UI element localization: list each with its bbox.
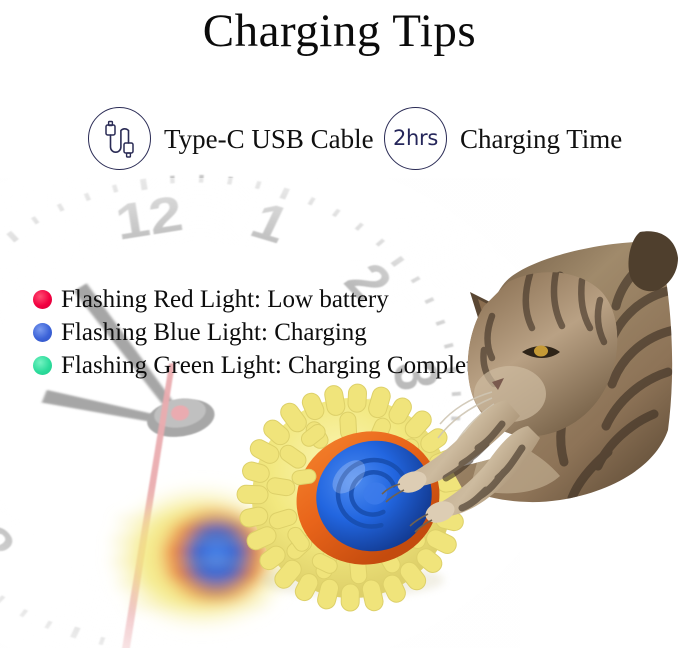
duration-badge-text: 2hrs bbox=[393, 128, 438, 149]
cat-claws bbox=[382, 484, 432, 532]
cat-eye bbox=[522, 346, 560, 358]
cat-front-legs bbox=[382, 400, 540, 532]
clock-numeral-1: 1 bbox=[243, 191, 299, 254]
led-legend-row-red: Flashing Red Light: Low battery bbox=[33, 283, 497, 316]
clock-second-hand bbox=[61, 362, 232, 648]
led-indicator-green-icon bbox=[33, 356, 52, 375]
led-legend-text-red: Flashing Red Light: Low battery bbox=[61, 285, 389, 314]
spec-label-usb-cable: Type-C USB Cable bbox=[164, 123, 374, 155]
led-legend-text-green: Flashing Green Light: Charging Completed bbox=[61, 351, 497, 380]
led-legend-row-green: Flashing Green Light: Charging Completed bbox=[33, 349, 497, 382]
spec-item-usb-cable: Type-C USB Cable bbox=[88, 98, 374, 170]
clock-center-hub bbox=[144, 394, 217, 441]
chenille-strands bbox=[237, 384, 466, 613]
led-legend-row-blue: Flashing Blue Light: Charging bbox=[33, 316, 497, 349]
duration-badge-icon: 2hrs bbox=[384, 107, 447, 170]
led-indicator-blue-icon bbox=[33, 323, 52, 342]
ball-blue-core bbox=[302, 426, 446, 566]
clock-numeral-12: 12 bbox=[112, 184, 187, 250]
toy-ball bbox=[237, 384, 466, 613]
cat-whiskers bbox=[438, 392, 494, 450]
clock-numeral-8: 8 bbox=[0, 515, 28, 573]
cat-tail bbox=[628, 231, 678, 291]
led-legend: Flashing Red Light: Low battery Flashing… bbox=[33, 283, 497, 382]
clock-hour-hand bbox=[40, 371, 176, 446]
spec-item-charging-time: 2hrs Charging Time bbox=[384, 98, 622, 170]
spec-label-charging-time: Charging Time bbox=[460, 123, 622, 155]
ball-orange-ring bbox=[279, 413, 457, 583]
clock-tick-marks bbox=[0, 135, 492, 648]
led-indicator-red-icon bbox=[33, 290, 52, 309]
usb-cable-icon bbox=[88, 107, 151, 170]
chenille-front-strands bbox=[285, 421, 340, 575]
blurred-toy-ball bbox=[107, 482, 297, 632]
page-title: Charging Tips bbox=[0, 2, 679, 60]
spec-row: Type-C USB Cable 2hrs Charging Time bbox=[0, 98, 679, 178]
clock-numeral-4: 4 bbox=[363, 457, 438, 503]
clock-backdrop: 12 1 2 3 4 8 bbox=[0, 178, 520, 648]
motion-streaks bbox=[290, 400, 388, 448]
led-legend-text-blue: Flashing Blue Light: Charging bbox=[61, 318, 367, 347]
